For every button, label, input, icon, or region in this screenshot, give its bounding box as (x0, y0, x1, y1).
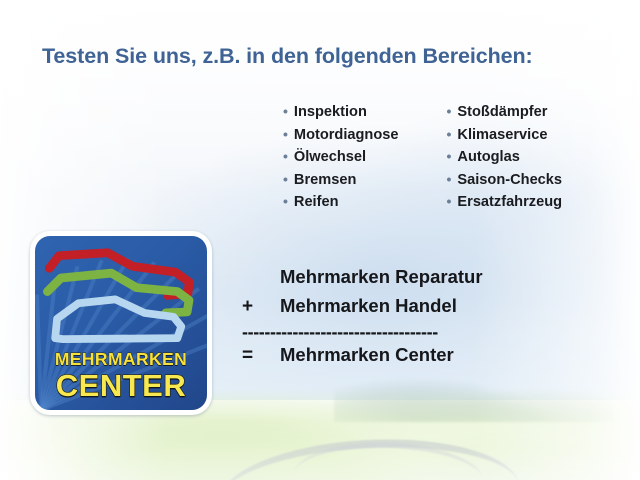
equation-term: Mehrmarken Reparatur (280, 266, 483, 288)
logo-tile: MEHRMARKEN CENTER (35, 236, 207, 410)
list-item-label: Ersatzfahrzeug (457, 192, 562, 214)
list-item-label: Bremsen (294, 170, 356, 192)
bullet-icon: • (447, 191, 452, 213)
list-item-label: Autoglas (457, 147, 519, 169)
bullet-icon: • (447, 124, 452, 146)
bullet-icon: • (283, 124, 288, 146)
list-item: • Bremsen (283, 169, 399, 192)
mehrmarken-center-logo[interactable]: MEHRMARKEN CENTER (30, 231, 212, 415)
list-item: • Inspektion (283, 101, 399, 124)
services-column-right: • Stoßdämpfer • Klimaservice • Autoglas … (447, 101, 563, 214)
list-item: • Motordiagnose (283, 124, 399, 147)
services-column-left: • Inspektion • Motordiagnose • Ölwechsel… (283, 101, 399, 214)
bullet-icon: • (283, 169, 288, 191)
equation-operator: + (242, 296, 280, 318)
page-title: Testen Sie uns, z.B. in den folgenden Be… (42, 44, 533, 69)
slide-canvas: Testen Sie uns, z.B. in den folgenden Be… (0, 0, 640, 480)
services-list: • Inspektion • Motordiagnose • Ölwechsel… (283, 101, 562, 214)
bullet-icon: • (283, 191, 288, 213)
bullet-icon: • (447, 169, 452, 191)
list-item: • Autoglas (447, 146, 563, 169)
list-item: • Reifen (283, 191, 399, 214)
equation-row-addend-1: Mehrmarken Reparatur (242, 266, 562, 295)
equation-row-addend-2: + Mehrmarken Handel (242, 295, 562, 324)
slide-content: Testen Sie uns, z.B. in den folgenden Be… (0, 0, 640, 480)
equation-block: Mehrmarken Reparatur + Mehrmarken Handel… (242, 266, 562, 373)
list-item: • Stoßdämpfer (447, 101, 563, 124)
car-silhouettes-icon (42, 245, 200, 346)
equation-term: Mehrmarken Center (280, 344, 454, 366)
list-item: • Saison-Checks (447, 169, 563, 192)
bullet-icon: • (447, 146, 452, 168)
list-item-label: Saison-Checks (457, 170, 562, 192)
list-item-label: Motordiagnose (294, 125, 399, 147)
logo-text-mehrmarken: MEHRMARKEN (35, 350, 207, 369)
list-item-label: Inspektion (294, 102, 367, 124)
bullet-icon: • (447, 101, 452, 123)
equation-row-result: = Mehrmarken Center (242, 344, 562, 373)
equation-divider: ----------------------------------- (242, 324, 562, 344)
logo-wordmark: MEHRMARKEN CENTER (35, 350, 207, 402)
logo-text-center: CENTER (35, 369, 207, 402)
list-item-label: Stoßdämpfer (457, 102, 547, 124)
list-item-label: Klimaservice (457, 125, 547, 147)
list-item-label: Ölwechsel (294, 147, 366, 169)
bullet-icon: • (283, 101, 288, 123)
bullet-icon: • (283, 146, 288, 168)
equation-operator: = (242, 345, 280, 367)
list-item: • Ersatzfahrzeug (447, 191, 563, 214)
equation-term: Mehrmarken Handel (280, 295, 457, 317)
list-item-label: Reifen (294, 192, 339, 214)
list-item: • Klimaservice (447, 124, 563, 147)
list-item: • Ölwechsel (283, 146, 399, 169)
